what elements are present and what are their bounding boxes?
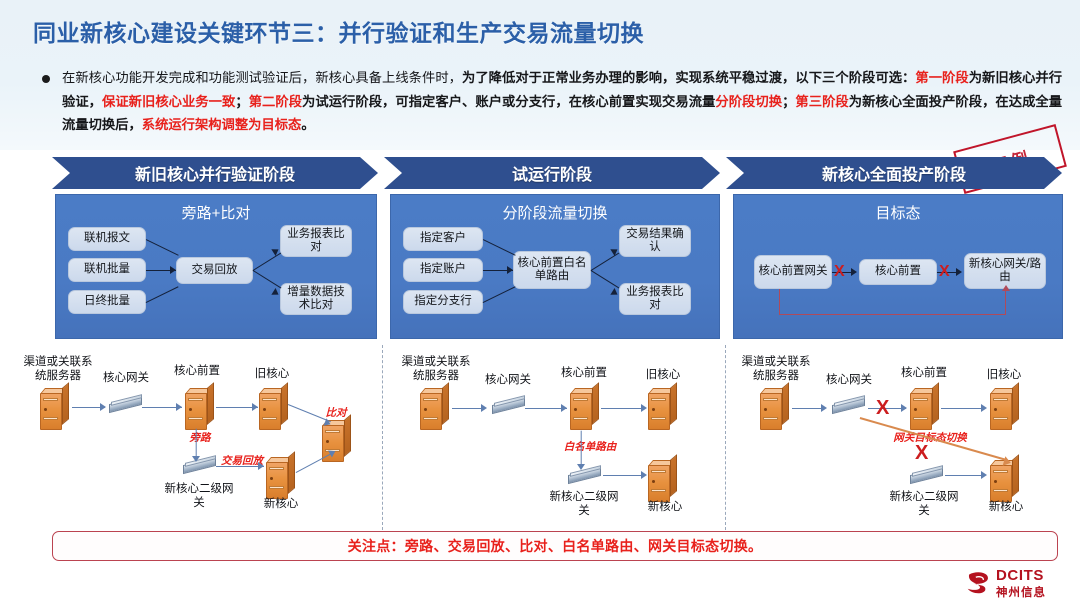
- dcits-logo-mark-icon: [965, 568, 992, 596]
- panel1-input-2[interactable]: 联机批量: [68, 258, 146, 282]
- panel2-input-3[interactable]: 指定分支行: [403, 290, 483, 314]
- panel2-output-2[interactable]: 业务报表比对: [619, 283, 691, 315]
- col1-secondary-gw-label: 新核心二级网关: [163, 482, 235, 510]
- col2-arrow-2: [561, 404, 567, 412]
- col3-frontend-server-icon: [910, 388, 940, 430]
- col1-old-core-server-icon: [259, 388, 289, 430]
- col3-arrow-1: [821, 404, 827, 412]
- col1-gateway-icon: [109, 397, 145, 415]
- col2-source-server-icon: [420, 388, 450, 430]
- panel1-output-2[interactable]: 增量数据技术比对: [280, 283, 352, 315]
- col1-gateway-label: 核心网关: [95, 371, 157, 385]
- bullet-marker: [42, 75, 50, 83]
- col3-arrow-newcore: [981, 471, 987, 479]
- panel1-output-1[interactable]: 业务报表比对: [280, 225, 352, 257]
- col1-new-core-server-icon: [266, 457, 296, 499]
- page-title: 同业新核心建设关键环节三：并行验证和生产交易流量切换: [33, 14, 644, 48]
- col1-frontend-label: 核心前置: [161, 364, 233, 378]
- dcits-logo: DCITS 神州信息: [965, 566, 1069, 602]
- column-divider-1: [382, 345, 383, 530]
- body-segment-7: 为试运行阶段，可指定客户、账户或分支行，在核心前置实现交易流量: [302, 94, 715, 109]
- col1-source-server-icon: [40, 388, 70, 430]
- col1-arrow-bypass: [192, 456, 200, 462]
- body-segment-9: ；: [782, 94, 795, 109]
- col1-flow-bypass: [195, 429, 196, 457]
- col1-frontend-server-icon: [185, 388, 215, 430]
- flow-panel-3-title: 目标态: [734, 202, 1062, 223]
- col3-gateway-label: 核心网关: [818, 373, 880, 387]
- col3-frontend-label: 核心前置: [888, 366, 960, 380]
- panel2-edge-c: [483, 286, 516, 303]
- col3-secondary-gateway-icon: [910, 468, 946, 486]
- phase-banner-2[interactable]: 试运行阶段: [384, 157, 720, 189]
- body-segment-12: 系统运行架构调整为目标态: [142, 117, 302, 132]
- panel1-edge-c: [146, 286, 179, 303]
- col3-gateway-icon: [832, 398, 868, 416]
- footer-note-box: 关注点：旁路、交易回放、比对、白名单路由、网关目标态切换。: [52, 531, 1058, 561]
- col2-new-core-server-icon: [648, 460, 678, 502]
- col2-arrow-1: [481, 404, 487, 412]
- col2-old-core-label: 旧核心: [634, 368, 692, 382]
- panel2-input-1[interactable]: 指定客户: [403, 227, 483, 251]
- col2-new-core-label: 新核心: [634, 500, 696, 514]
- col1-arrow-2: [176, 403, 182, 411]
- dcits-logo-en: DCITS: [996, 567, 1044, 584]
- col1-flow-replay: [216, 466, 264, 467]
- col2-flow-newcore: [603, 475, 645, 476]
- body-segment-1: 为了降低对于正常业务办理的影响，实现系统平稳过渡，以下三个阶段可选：: [462, 70, 915, 85]
- col2-frontend-label: 核心前置: [548, 366, 620, 380]
- panel2-edge-e: [591, 270, 620, 289]
- panel1-edge-d: [253, 253, 282, 272]
- flow-panel-2: 分阶段流量切换 指定客户 指定账户 指定分支行 核心前置白名单路由 交易结果确认…: [390, 194, 720, 339]
- panel2-middle[interactable]: 核心前置白名单路由: [513, 251, 591, 289]
- col2-source-label: 渠道或关联系统服务器: [396, 355, 476, 383]
- body-segment-6: 第二阶段: [249, 94, 302, 109]
- panel2-arrow-mid: [507, 266, 513, 274]
- panel3-block-mark-2: X: [939, 264, 950, 280]
- col3-source-server-icon: [760, 388, 790, 430]
- col1-arrow-replay: [258, 462, 264, 470]
- col3-arrow-2: [901, 404, 907, 412]
- flow-panel-3: 目标态 核心前置网关 核心前置 新核心网关/路由 X X: [733, 194, 1063, 339]
- col2-arrow-bypass: [577, 464, 585, 470]
- flow-panel-2-title: 分阶段流量切换: [391, 202, 719, 223]
- body-paragraph: 在新核心功能开发完成和功能测试验证后，新核心具备上线条件时，为了降低对于正常业务…: [62, 66, 1062, 137]
- col3-new-core-label: 新核心: [975, 500, 1037, 514]
- panel3-arrow-a: [851, 268, 857, 276]
- phase-banner-3[interactable]: 新核心全面投产阶段: [726, 157, 1062, 189]
- panel3-bypass-path: [779, 289, 1006, 315]
- col3-secondary-gw-label: 新核心二级网关: [888, 490, 960, 518]
- body-segment-5: ；: [235, 94, 248, 109]
- slide-canvas: 同业新核心建设关键环节三：并行验证和生产交易流量切换 在新核心功能开发完成和功能…: [0, 0, 1080, 608]
- col2-arrow-3: [641, 404, 647, 412]
- col2-gateway-label: 核心网关: [477, 373, 539, 387]
- body-segment-0: 在新核心功能开发完成和功能测试验证后，新核心具备上线条件时，: [62, 70, 462, 85]
- col3-old-core-server-icon: [990, 388, 1020, 430]
- panel3-node-3[interactable]: 新核心网关/路由: [964, 253, 1046, 289]
- body-segment-4: 保证新旧核心业务一致: [102, 94, 235, 109]
- body-segment-8: 分阶段切换: [715, 94, 782, 109]
- dcits-logo-cn: 神州信息: [996, 584, 1046, 600]
- col3-block-mark-bottom: X: [915, 443, 928, 463]
- footer-note-text: 关注点：旁路、交易回放、比对、白名单路由、网关目标态切换。: [348, 536, 763, 556]
- body-segment-10: 第三阶段: [795, 94, 848, 109]
- panel3-arrow-b: [956, 268, 962, 276]
- col1-arrow-3: [252, 403, 258, 411]
- col1-secondary-gateway-icon: [183, 458, 219, 476]
- phase-banner-1[interactable]: 新旧核心并行验证阶段: [52, 157, 378, 189]
- panel2-output-1[interactable]: 交易结果确认: [619, 225, 691, 257]
- panel1-edge-e: [253, 270, 282, 289]
- col1-old-core-label: 旧核心: [243, 367, 301, 381]
- col3-block-mark-top: X: [876, 398, 889, 418]
- panel3-bypass-arrow: [1002, 285, 1010, 291]
- col1-branch-label: 旁路: [178, 432, 222, 445]
- flow-panel-1: 旁路+比对 联机报文 联机批量 日终批量 交易回放 业务报表比对 增量数据技术比…: [55, 194, 377, 339]
- col1-source-label: 渠道或关联系统服务器: [18, 355, 98, 383]
- col2-branch-label: 白名单路由: [551, 441, 629, 454]
- panel2-input-2[interactable]: 指定账户: [403, 258, 483, 282]
- col3-flow-3: [941, 408, 985, 409]
- col3-flow-newcore: [945, 475, 985, 476]
- col2-secondary-gateway-icon: [568, 468, 604, 486]
- col1-flow-cmp-new: [296, 451, 336, 473]
- panel3-node-2[interactable]: 核心前置: [859, 259, 937, 285]
- panel1-input-3[interactable]: 日终批量: [68, 290, 146, 314]
- col3-arrow-3: [981, 404, 987, 412]
- flow-panel-1-title: 旁路+比对: [56, 202, 376, 223]
- body-segment-2: 第一阶段: [915, 70, 968, 85]
- col3-source-label: 渠道或关联系统服务器: [736, 355, 816, 383]
- panel1-middle[interactable]: 交易回放: [176, 257, 253, 284]
- col1-arrow-1: [100, 403, 106, 411]
- col2-gateway-icon: [492, 398, 528, 416]
- col3-old-core-label: 旧核心: [975, 368, 1033, 382]
- panel3-node-1[interactable]: 核心前置网关: [754, 255, 832, 289]
- panel1-input-1[interactable]: 联机报文: [68, 227, 146, 251]
- panel2-edge-a: [483, 239, 516, 256]
- col2-frontend-server-icon: [570, 388, 600, 430]
- col2-old-core-server-icon: [648, 388, 678, 430]
- panel3-block-mark-1: X: [834, 264, 845, 280]
- col2-flow-bypass: [580, 431, 581, 465]
- panel1-edge-a: [146, 239, 179, 256]
- col2-flow-3: [601, 408, 645, 409]
- body-segment-13: 。: [301, 117, 314, 132]
- col1-new-core-label: 新核心: [250, 497, 312, 511]
- panel1-arrow-mid: [170, 266, 176, 274]
- col2-secondary-gw-label: 新核心二级网关: [548, 490, 620, 518]
- column-divider-2: [725, 345, 726, 530]
- col2-arrow-newcore: [641, 471, 647, 479]
